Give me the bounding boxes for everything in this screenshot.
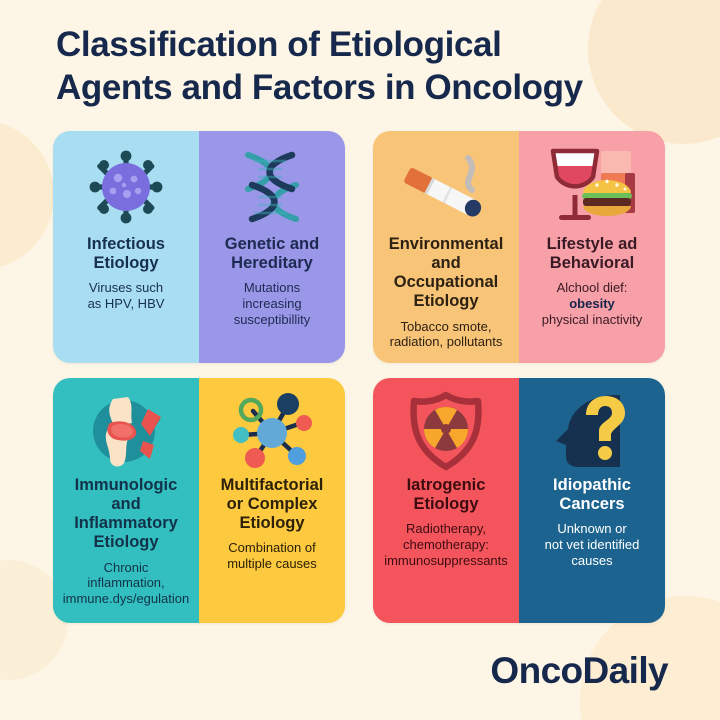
card-environmental-lifestyle: Environmental and Occupational Etiology …: [373, 131, 665, 363]
panel-subtitle-line-3: immunosuppressants: [384, 553, 508, 568]
page-title-line-1: Classification of Etiological: [56, 24, 676, 67]
panel-subtitle: Radiotherapy, chemotherapy: immunosuppre…: [384, 521, 508, 569]
panel-title: Iatrogenic Etiology: [407, 476, 486, 514]
panel-immunologic-inflammatory-etiology[interactable]: Immunologic and Inflammatory Etiology Ch…: [53, 378, 199, 623]
panel-title-line-1: Environmental: [389, 235, 504, 253]
panel-title-line-3: Etiology: [93, 533, 158, 551]
page-title-line-2: Agents and Factors in Oncology: [56, 67, 676, 110]
cigarette-icon: [380, 141, 512, 233]
panel-title-line-1: Genetic and: [225, 235, 319, 253]
panel-title: Lifestyle ad Behavioral: [547, 235, 638, 273]
panel-title-line-1: Idiopathic: [553, 476, 631, 494]
panel-subtitle-line-3: susceptibillity: [234, 312, 311, 327]
panel-title-line-1: Infectious: [87, 235, 165, 253]
panel-subtitle-line-2: chemotherapy:: [403, 537, 489, 552]
panel-subtitle: Chronic inflammation, immune.dys/egulati…: [63, 560, 189, 608]
panel-title: Immunologic and Inflammatory Etiology: [60, 476, 192, 553]
panel-idiopathic-cancers[interactable]: Idiopathic Cancers Unknown or not vet id…: [519, 378, 665, 623]
panel-subtitle-line-2: not vet identified: [545, 537, 640, 552]
panel-subtitle: Viruses such as HPV, HBV: [88, 280, 165, 312]
panel-title-line-1: Multifactorial: [221, 476, 324, 494]
panel-title: Multifactorial or Complex Etiology: [221, 476, 324, 533]
panel-subtitle: Mutations increasing susceptibillity: [234, 280, 311, 328]
panel-subtitle-line-1: Viruses such: [89, 280, 163, 295]
virus-icon: [60, 141, 192, 233]
panel-subtitle: Combination of multiple causes: [227, 540, 317, 572]
panel-title-line-3: Etiology: [413, 292, 478, 310]
panel-subtitle-line-1: Alchool dief:: [557, 280, 628, 295]
panel-infectious-etiology[interactable]: Infectious Etiology Viruses such as HPV,…: [53, 131, 199, 363]
panel-subtitle-line-2: increasing: [242, 296, 301, 311]
panel-lifestyle-behavioral[interactable]: Lifestyle ad Behavioral Alchool dief: ob…: [519, 131, 665, 363]
brand-logo: OncoDaily: [490, 650, 668, 692]
panel-subtitle-line-1: Tobacco smote,: [400, 319, 491, 334]
panel-title-line-2: or Complex: [227, 495, 318, 513]
panel-subtitle-line-1: Radiotherapy,: [406, 521, 486, 536]
panel-title-line-2: and Inflammatory: [74, 495, 178, 532]
molecule-icon: [206, 388, 338, 474]
panel-subtitle: Unknown or not vet identified causes: [545, 521, 640, 569]
panel-subtitle-line-1: Chronic: [104, 560, 149, 575]
panel-title: Idiopathic Cancers: [553, 476, 631, 514]
panel-title: Infectious Etiology: [87, 235, 165, 273]
panel-subtitle-line-1: Combination of: [228, 540, 315, 555]
panel-subtitle-line-2: radiation, pollutants: [390, 334, 503, 349]
panel-title-line-1: Immunologic: [75, 476, 178, 494]
panel-subtitle-line-3: physical inactivity: [542, 312, 642, 327]
panel-subtitle-line-2: inflammation,: [87, 575, 164, 590]
head-question-mark-icon: [526, 388, 658, 474]
panel-title: Environmental and Occupational Etiology: [380, 235, 512, 312]
panel-title-line-2: Cancers: [559, 495, 624, 513]
panel-subtitle: Tobacco smote, radiation, pollutants: [390, 319, 503, 351]
panel-environmental-occupational-etiology[interactable]: Environmental and Occupational Etiology …: [373, 131, 519, 363]
panel-title-line-3: Etiology: [239, 514, 304, 532]
radiation-shield-icon: [380, 388, 512, 474]
card-grid: Infectious Etiology Viruses such as HPV,…: [53, 131, 667, 623]
card-infectious-genetic: Infectious Etiology Viruses such as HPV,…: [53, 131, 345, 363]
panel-title-line-2: Etiology: [413, 495, 478, 513]
page-title: Classification of Etiological Agents and…: [56, 24, 676, 109]
panel-subtitle-line-1: Unknown or: [557, 521, 626, 536]
panel-subtitle-line-1: Mutations: [244, 280, 300, 295]
panel-title-line-2: Behavioral: [550, 254, 634, 272]
panel-genetic-hereditary[interactable]: Genetic and Hereditary Mutations increas…: [199, 131, 345, 363]
panel-subtitle-line-2: multiple causes: [227, 556, 317, 571]
dna-helix-icon: [206, 141, 338, 233]
panel-title-line-2: and Occupational: [394, 254, 499, 291]
panel-subtitle-line-2: as HPV, HBV: [88, 296, 165, 311]
knee-joint-inflammation-icon: [60, 388, 192, 474]
card-immunologic-multifactorial: Immunologic and Inflammatory Etiology Ch…: [53, 378, 345, 623]
panel-title: Genetic and Hereditary: [225, 235, 319, 273]
infographic-page: Classification of Etiological Agents and…: [0, 0, 720, 720]
panel-title-line-2: Etiology: [93, 254, 158, 272]
panel-subtitle-line-3: causes: [571, 553, 612, 568]
panel-title-line-2: Hereditary: [231, 254, 313, 272]
panel-title-line-1: Iatrogenic: [407, 476, 486, 494]
panel-iatrogenic-etiology[interactable]: Iatrogenic Etiology Radiotherapy, chemot…: [373, 378, 519, 623]
card-iatrogenic-idiopathic: Iatrogenic Etiology Radiotherapy, chemot…: [373, 378, 665, 623]
panel-multifactorial-complex-etiology[interactable]: Multifactorial or Complex Etiology Combi…: [199, 378, 345, 623]
panel-subtitle-line-3: immune.dys/egulation: [63, 591, 189, 606]
wine-burger-icon: [526, 141, 658, 233]
panel-subtitle-emphasis: obesity: [569, 296, 615, 311]
decorative-circle-left: [0, 120, 54, 270]
panel-subtitle: Alchool dief: obesity physical inactivit…: [542, 280, 642, 328]
panel-title-line-1: Lifestyle ad: [547, 235, 638, 253]
